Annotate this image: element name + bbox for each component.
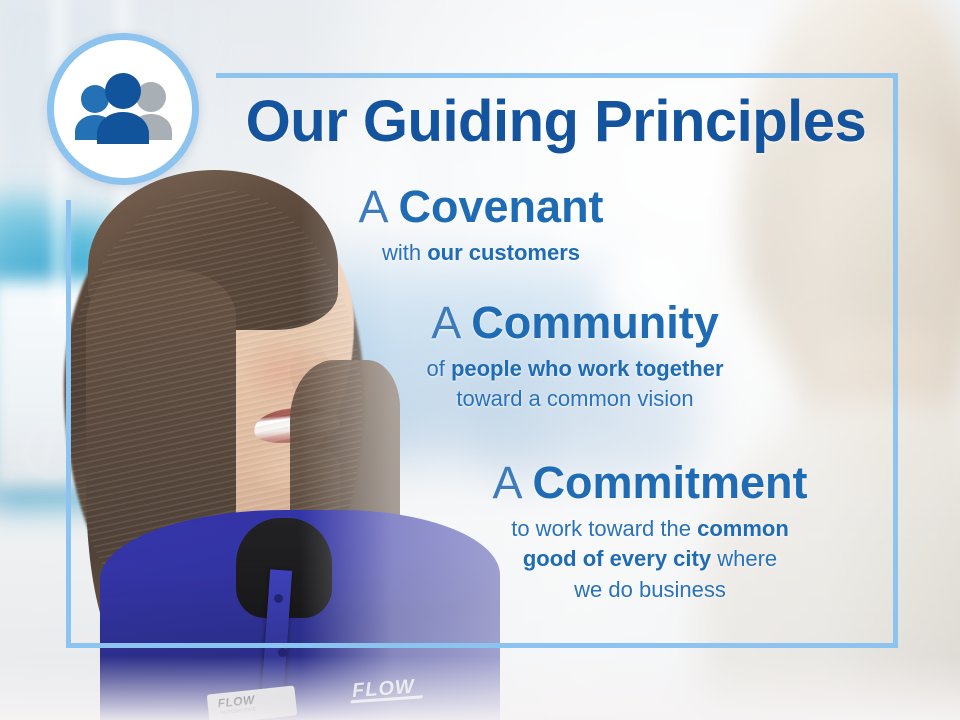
principle-subtext-line: good of every city where: [420, 544, 880, 574]
principle-subtext: to work toward the commongood of every c…: [420, 514, 880, 605]
frame-left-edge: [66, 200, 71, 648]
principle-lead: A Community: [330, 300, 820, 346]
principle-subtext-line: of people who work together: [330, 354, 820, 384]
page-title: Our Guiding Principles: [216, 92, 896, 153]
principle-article: A: [431, 297, 459, 348]
frame-top-edge: [216, 73, 898, 78]
principle-covenant: A Covenant with our customers: [286, 184, 676, 267]
principle-subtext-line: toward a common vision: [330, 384, 820, 414]
principle-keyword: Covenant: [399, 181, 604, 232]
principle-subtext-line: we do business: [420, 575, 880, 605]
poster-canvas: FLOW AUTOMOTIVE FLOW Our Guid: [0, 0, 960, 720]
shirt-chest-logo: FLOW: [351, 676, 415, 703]
principle-lead: A Commitment: [420, 460, 880, 506]
people-group-icon: [71, 73, 175, 145]
principle-subtext-line: with our customers: [286, 238, 676, 267]
principle-keyword: Community: [471, 297, 719, 348]
principle-article: A: [358, 181, 386, 232]
frame-right-edge: [893, 73, 898, 648]
principle-subtext-line: to work toward the common: [420, 514, 880, 544]
frame-bottom-edge: [66, 643, 898, 648]
principle-commitment: A Commitment to work toward the commongo…: [420, 460, 880, 605]
principle-article: A: [492, 457, 520, 508]
principle-community: A Community of people who work togethert…: [330, 300, 820, 414]
principle-subtext: with our customers: [286, 238, 676, 267]
people-group-badge: [47, 33, 199, 185]
principle-keyword: Commitment: [533, 457, 808, 508]
principle-subtext: of people who work togethertoward a comm…: [330, 354, 820, 414]
principle-lead: A Covenant: [286, 184, 676, 230]
